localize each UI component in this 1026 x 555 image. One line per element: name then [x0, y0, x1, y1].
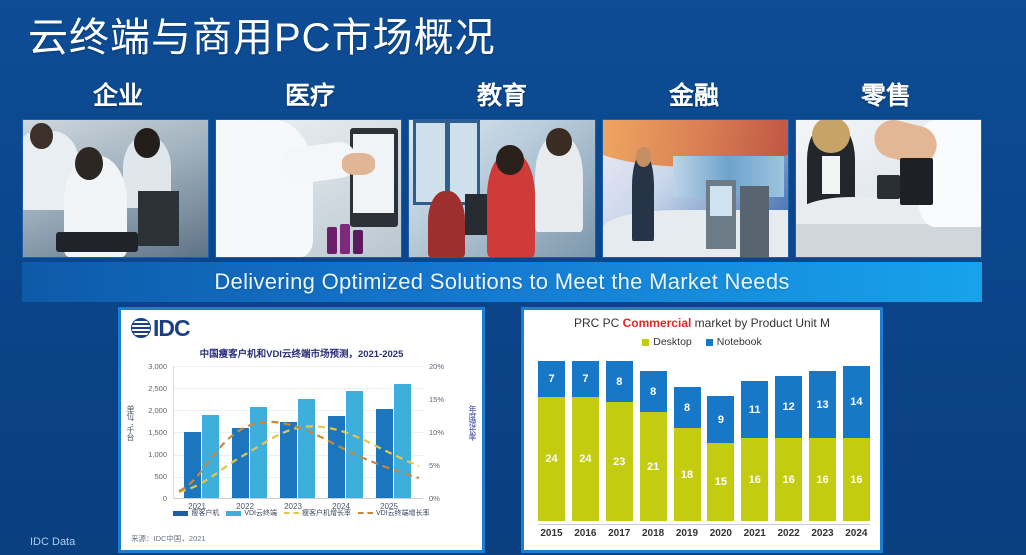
segment-notebook: 11	[741, 381, 768, 438]
segment-desktop: 16	[775, 438, 802, 521]
segment-notebook: 12	[775, 376, 802, 438]
y-tick: 1,500	[133, 428, 167, 437]
segment-desktop: 24	[538, 397, 565, 521]
stacked-bar-2020: 9 15	[707, 396, 734, 521]
x-tick: 2017	[606, 528, 633, 540]
stacked-bar-2024: 14 16	[843, 366, 870, 521]
photo-healthcare-lab	[215, 119, 402, 258]
category-label-finance: 金融	[598, 80, 790, 116]
y2-tick: 15%	[429, 395, 459, 404]
y-tick: 2,500	[133, 384, 167, 393]
legend-swatch	[358, 512, 373, 514]
secondary-y-axis-label: 年度增长率	[467, 405, 478, 440]
globe-icon	[131, 318, 151, 338]
legend-swatch	[173, 511, 188, 516]
growth-rate-lines	[174, 366, 424, 499]
segment-desktop: 16	[809, 438, 836, 521]
category-label-row: 企业 医疗 教育 金融 零售	[22, 80, 982, 116]
segment-desktop: 21	[640, 412, 667, 521]
category-label-healthcare: 医疗	[214, 80, 406, 116]
legend-label: VDI云终端增长率	[376, 508, 430, 518]
segment-notebook: 7	[572, 361, 599, 397]
stacked-bar-2019: 8 18	[674, 387, 701, 521]
legend-swatch	[226, 511, 241, 516]
segment-desktop: 16	[741, 438, 768, 521]
y2-tick: 10%	[429, 428, 459, 437]
segment-notebook: 8	[606, 361, 633, 402]
segment-notebook: 9	[707, 396, 734, 443]
x-axis: 2015 2016 2017 2018 2019 2020 2021 2022 …	[538, 524, 870, 540]
stacked-bar-2021: 11 16	[741, 381, 768, 521]
page-title: 云终端与商用PC市场概况	[28, 12, 496, 64]
legend-item-thin-client-growth: 瘦客户机增长率	[284, 508, 351, 518]
segment-notebook: 13	[809, 371, 836, 438]
idc-forecast-chart: IDC 中国瘦客户机和VDI云终端市场预测，2021-2025 单位：千台 年度…	[118, 307, 485, 553]
y2-tick: 5%	[429, 461, 459, 470]
photo-finance-bank	[602, 119, 789, 258]
segment-notebook: 7	[538, 361, 565, 397]
chart-title-highlight: Commercial	[623, 316, 692, 330]
y-tick: 2,000	[133, 406, 167, 415]
segment-desktop: 16	[843, 438, 870, 521]
stacked-bar-2016: 7 24	[572, 361, 599, 521]
x-tick: 2020	[707, 528, 734, 540]
photo-education-classroom	[408, 119, 595, 258]
photo-enterprise-call-center	[22, 119, 209, 258]
stacked-bar-2022: 12 16	[775, 376, 802, 521]
y-tick: 0	[133, 494, 167, 503]
x-tick: 2022	[775, 528, 802, 540]
legend-item-notebook: Notebook	[706, 336, 762, 348]
stacked-bar-2017: 8 23	[606, 361, 633, 521]
chart-title-prefix: PRC PC	[574, 316, 623, 330]
legend-item-vdi-growth: VDI云终端增长率	[358, 508, 430, 518]
legend-label: VDI云终端	[244, 508, 277, 518]
y-tick: 3,000	[133, 362, 167, 371]
slide-root: 云终端与商用PC市场概况 企业 医疗 教育 金融 零售	[0, 0, 1026, 555]
x-tick: 2024	[843, 528, 870, 540]
plot-area	[173, 366, 423, 499]
category-label-retail: 零售	[790, 80, 982, 116]
legend-label: Desktop	[653, 336, 692, 348]
segment-desktop: 18	[674, 428, 701, 521]
x-tick: 2021	[741, 528, 768, 540]
segment-notebook: 14	[843, 366, 870, 438]
category-label-enterprise: 企业	[22, 80, 214, 116]
x-tick: 2023	[809, 528, 836, 540]
stacked-bar-2023: 13 16	[809, 371, 836, 521]
legend-item-thin-client: 瘦客户机	[173, 508, 219, 518]
stacked-bar-2015: 7 24	[538, 361, 565, 521]
idc-logo: IDC	[131, 318, 190, 338]
y-tick: 1,000	[133, 450, 167, 459]
chart-legend: Desktop Notebook	[524, 336, 880, 348]
line-vdi-growth	[179, 422, 419, 491]
footer-caption: IDC Data	[30, 536, 75, 548]
x-tick: 2019	[674, 528, 701, 540]
line-thin-client-growth	[179, 426, 419, 492]
photo-retail-pos	[795, 119, 982, 258]
photo-strip	[22, 119, 982, 258]
x-tick: 2018	[640, 528, 667, 540]
legend-item-desktop: Desktop	[642, 336, 692, 348]
idc-logo-text: IDC	[153, 318, 190, 338]
tagline-text: Delivering Optimized Solutions to Meet t…	[214, 269, 789, 295]
legend-swatch	[706, 339, 713, 346]
legend-label: Notebook	[717, 336, 762, 348]
x-tick: 2015	[538, 528, 565, 540]
chart-legend: 瘦客户机 VDI云终端 瘦客户机增长率 VDI云终端增长率	[121, 508, 482, 518]
prc-pc-commercial-chart: PRC PC Commercial market by Product Unit…	[521, 307, 883, 553]
legend-swatch	[284, 512, 299, 514]
legend-label: 瘦客户机增长率	[302, 508, 351, 518]
stacked-bar-2018: 8 21	[640, 371, 667, 521]
legend-label: 瘦客户机	[191, 508, 219, 518]
y-tick: 500	[133, 472, 167, 481]
legend-swatch	[642, 339, 649, 346]
tagline-banner: Delivering Optimized Solutions to Meet t…	[22, 262, 982, 302]
chart-title-suffix: market by Product Unit M	[691, 316, 830, 330]
chart-title: 中国瘦客户机和VDI云终端市场预测，2021-2025	[121, 346, 482, 360]
y2-tick: 0%	[429, 494, 459, 503]
plot-area: 7 24 7 24 8 23 8 21 8 18 9 15	[538, 356, 870, 521]
segment-desktop: 23	[606, 402, 633, 521]
x-tick: 2016	[572, 528, 599, 540]
category-label-education: 教育	[406, 80, 598, 116]
segment-desktop: 24	[572, 397, 599, 521]
y2-tick: 20%	[429, 362, 459, 371]
legend-item-vdi: VDI云终端	[226, 508, 277, 518]
segment-desktop: 15	[707, 443, 734, 521]
segment-notebook: 8	[640, 371, 667, 412]
chart-title: PRC PC Commercial market by Product Unit…	[524, 316, 880, 330]
segment-notebook: 8	[674, 387, 701, 428]
chart-source: 来源：IDC中国，2021	[131, 533, 206, 544]
